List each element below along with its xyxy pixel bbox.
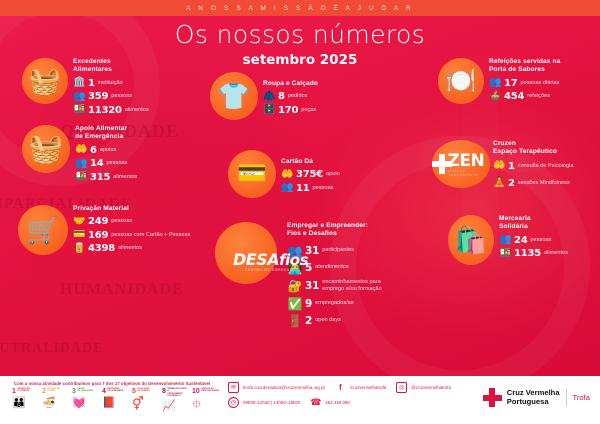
people-icon: 👥 <box>489 78 502 88</box>
people-icon: 👥 <box>75 159 88 169</box>
institution-icon: 🏛️ <box>73 78 86 88</box>
stat-value: 8 <box>278 91 285 102</box>
red-cross-icon <box>432 154 449 174</box>
contact-phone[interactable]: 252 419 080 <box>325 400 349 405</box>
stat-label: pessoas <box>111 218 132 225</box>
stat-row: 🔐 31 encaminhamentos para emprego e/ou f… <box>287 279 382 293</box>
stat-label: alimentos <box>125 107 149 114</box>
stat-label: pessoas com Cartão + Pessoas <box>111 232 190 239</box>
stat-row: 🍱 11320 alimentos <box>73 105 149 116</box>
desafios-logo-main: DESA <box>233 250 279 269</box>
hanger-icon: 🧥 <box>263 92 276 102</box>
sdg-list: 1 ERRADICAR A POBREZA 👪 2 ERRADICAR A FO… <box>12 388 218 414</box>
footer: Com a nossa atividade contribuímos para … <box>0 376 600 424</box>
stat-value: 14 <box>90 158 104 169</box>
stat-label: sessões Mindfulness <box>518 180 570 187</box>
stat-row: 👥 14 pessoas <box>75 158 137 169</box>
stat-row: 🤲 1 consulta de Psicologia <box>493 161 573 172</box>
block-title: Cruzen Espaço Terapêutico <box>493 140 573 157</box>
stat-label: apoios <box>100 147 116 154</box>
sdg-number: 5 <box>132 388 136 395</box>
clock-icon: ◷ <box>228 397 239 408</box>
soup-bowl-icon: 🍲 <box>489 92 502 102</box>
fruit-basket-glyph: 🧺 <box>29 135 64 163</box>
stat-row: 👥 11 pessoas <box>281 183 340 194</box>
stat-label: encaminhamentos para emprego e/ou formaç… <box>322 279 381 293</box>
sdg-icon-reduced-inequalities: ⯐ <box>192 396 218 411</box>
block-cartao-da: 💳 Cartão Dá 🤲 375€ apoio 👥 11 pessoas <box>228 150 340 198</box>
contact-email[interactable]: ttrofa.coordenadora@cruzvermelha.org.pt <box>243 385 325 390</box>
sdg-label: IGUALDADE DE GÉNERO <box>137 388 149 393</box>
food-box-icon: 🍱 <box>75 172 88 182</box>
payment-card-glyph: 💳 <box>237 162 267 186</box>
stat-label: participantes <box>322 247 354 254</box>
stat-row: ✅ 9 empregados/as <box>287 298 382 310</box>
stat-label: pedidos <box>288 93 308 100</box>
stat-value: 249 <box>88 216 108 227</box>
stat-row: 🍲 454 refeições <box>489 91 560 102</box>
stat-label: instituição <box>98 80 123 87</box>
sdg-icon-quality-education: 📕 <box>102 396 128 411</box>
clothing-rack-icon: 🗄️ <box>263 105 276 115</box>
stat-value: 4398 <box>88 243 115 254</box>
stat-value: 11320 <box>88 105 122 116</box>
sdg-label: ERRADICAR A FOME <box>47 388 59 393</box>
meditation-icon: 🧘 <box>493 178 506 188</box>
block-apoio-alimentar-emergencia: 🧺 Apoio Alimentar de Emergência 🤲 6 apoi… <box>22 125 137 185</box>
brand-name: Cruz Vermelha Portuguesa <box>507 389 560 406</box>
stat-label: alimentos <box>118 245 142 252</box>
sdg-number: 1 <box>12 388 16 395</box>
plate-cutlery-icon: 🍽️ <box>438 58 484 104</box>
block-mercearia-solidaria: 🛍️ Mercearia Solidária 👥 24 pessoas 🍱 11… <box>448 215 568 265</box>
stat-label: pessoas <box>107 160 128 167</box>
facebook-icon[interactable]: f <box>335 382 346 393</box>
stat-row: 👥 24 pessoas <box>499 235 568 246</box>
food-basket-icon: 🧺 <box>22 58 68 104</box>
stat-value: 359 <box>88 91 108 102</box>
stat-value: 170 <box>278 105 298 116</box>
sdg-number: 8 <box>162 388 166 395</box>
stat-label: pessoas <box>111 93 132 100</box>
stat-value: 1 <box>508 161 515 172</box>
grocery-bag-glyph: 🛍️ <box>455 227 487 253</box>
stat-value: 1 <box>88 78 95 89</box>
stat-label: peças <box>301 107 316 114</box>
block-roupa-e-calcado: 👕 Roupa e Calçado 🧥 8 pedidos 🗄️ 170 peç… <box>210 72 318 120</box>
stat-value: 6 <box>90 145 97 156</box>
envelope-icon: ✉ <box>228 382 239 393</box>
stat-value: 454 <box>504 91 524 102</box>
stat-label: consulta de Psicologia <box>518 163 574 170</box>
stat-row: 💳 169 pessoas com Cartão + Pessoas <box>73 230 190 241</box>
clothes-shoes-glyph: 👕 <box>218 83 250 109</box>
sdg-item-4: 4 EDUCAÇÃO DE QUALIDADE 📕 <box>102 388 128 414</box>
fruit-basket-icon: 🧺 <box>22 125 70 173</box>
stat-row: 👥 17 pessoas diárias <box>489 78 560 89</box>
contact-line-secondary: ◷ 09h00–12h30 | 14h00–18h00 ☎ 252 419 08… <box>228 397 461 408</box>
stat-value: 2 <box>508 178 515 189</box>
support-hands-icon: 🤲 <box>281 170 294 180</box>
mission-tagline-bar: A N O S S A M I S S Ã O É A J U D A R <box>0 0 600 16</box>
sdg-item-2: 2 ERRADICAR A FOME 🍜 <box>42 388 68 414</box>
block-excedentes-alimentares: 🧺 Excedentes Alimentares 🏛️ 1 instituiçã… <box>22 58 149 118</box>
sdg-icon-zero-hunger: 🍜 <box>42 396 68 411</box>
stat-value: 2 <box>305 315 312 327</box>
contact-instagram[interactable]: @cruzvermelhatrofa <box>411 385 451 390</box>
stat-value: 1135 <box>514 248 541 259</box>
clothes-shoes-icon: 👕 <box>210 72 258 120</box>
sdg-icon-gender-equality: ⚥ <box>132 396 158 411</box>
block-refeicoes-porta-de-sabores: 🍽️ Refeições servidas na Porta de Sabore… <box>438 58 560 105</box>
block-title: Refeições servidas na Porta de Sabores <box>489 58 560 75</box>
sdg-label: TRABALHO DIGNO E CRESCIMENTO ECONÓMICO <box>167 388 188 398</box>
stat-row: 🥫 4398 alimentos <box>73 243 190 254</box>
stat-row: 🏛️ 1 instituição <box>73 78 149 89</box>
stat-row: 🚪 2 open days <box>287 315 382 327</box>
block-privacao-material: 🛒 Privação Material 🤝 249 pessoas 💳 169 … <box>18 205 190 257</box>
phone-icon: ☎ <box>310 397 321 408</box>
sdg-item-5: 5 IGUALDADE DE GÉNERO ⚥ <box>132 388 158 414</box>
stat-row: 🍱 1135 alimentos <box>499 248 568 259</box>
page-title: Os nossos números <box>0 20 600 49</box>
stat-row: 🗄️ 170 peças <box>263 105 318 116</box>
brand-logo: Cruz Vermelha Portuguesa Trofa <box>483 388 590 407</box>
block-title: Excedentes Alimentares <box>73 58 149 75</box>
grocery-bag-heart-icon: 🛍️ <box>448 215 494 265</box>
sdg-number: 10 <box>192 388 200 395</box>
open-day-icon: 🚪 <box>287 315 303 327</box>
sdg-number: 3 <box>72 388 76 395</box>
block-title: Apoio Alimentar de Emergência <box>75 125 137 142</box>
stat-label: atendimentos <box>315 264 349 271</box>
hand-box-icon: 🤝 <box>73 217 86 227</box>
referral-icon: 🔐 <box>287 280 303 292</box>
block-empregar-e-empreender: DESAfios CENTRO DE EMPREGO Empregar e Em… <box>215 222 382 332</box>
stat-value: 375€ <box>296 169 323 180</box>
stat-label: pessoas <box>531 237 552 244</box>
stat-row: 🤲 6 apoios <box>75 145 137 156</box>
red-cross-icon <box>483 388 502 407</box>
brand-divider <box>566 389 567 406</box>
stat-row: 🤝 249 pessoas <box>73 216 190 227</box>
cruzen-logo-icon: ZEN ESPAÇO TERAPÊUTICO <box>432 140 490 188</box>
stat-row: 🍱 315 alimentos <box>75 172 137 183</box>
stat-label: pessoas <box>313 185 334 192</box>
credit-card-icon: 💳 <box>73 230 86 240</box>
stat-value: 31 <box>305 280 319 292</box>
stat-row: 🤲 375€ apoio <box>281 169 340 180</box>
sdg-item-10: 10 REDUZIR AS DESIGUALDADES ⯐ <box>192 388 218 414</box>
contact-hours: 09h00–12h30 | 14h00–18h00 <box>243 400 300 405</box>
block-title: Empregar e Empreender: Fios e Desafios <box>287 222 382 239</box>
check-circle-icon: ✅ <box>287 298 303 310</box>
block-title: Privação Material <box>73 205 190 213</box>
sdg-icon-good-health: 💓 <box>72 396 98 411</box>
food-box-icon: 🍱 <box>499 249 512 259</box>
sdg-label: REDUZIR AS DESIGUALDADES <box>201 388 219 393</box>
contact-facebook[interactable]: /cruzvermelhatrofa <box>350 385 386 390</box>
sdg-item-3: 3 SAÚDE DE QUALIDADE 💓 <box>72 388 98 414</box>
zen-wordmark: ZEN <box>448 151 485 171</box>
stat-label: open days <box>315 317 341 324</box>
payment-card-hand-icon: 💳 <box>228 150 276 198</box>
sdg-number: 4 <box>102 388 106 395</box>
sdg-label: ERRADICAR A POBREZA <box>17 388 29 393</box>
people-icon: 👥 <box>73 92 86 102</box>
infographic-page: A N O S S A M I S S Ã O É A J U D A R QU… <box>0 0 600 424</box>
sdg-label: EDUCAÇÃO DE QUALIDADE <box>107 388 123 393</box>
sdg-item-8: 8 TRABALHO DIGNO E CRESCIMENTO ECONÓMICO… <box>162 388 188 414</box>
stat-label: pessoas diárias <box>521 80 560 87</box>
sdg-number: 2 <box>42 388 46 395</box>
block-cruzen-espaco-terapeutico: ZEN ESPAÇO TERAPÊUTICO Cruzen Espaço Ter… <box>432 140 573 191</box>
food-box-icon: 🍱 <box>73 105 86 115</box>
stat-label: refeições <box>527 93 550 100</box>
instagram-icon[interactable]: ◎ <box>396 382 407 393</box>
brand-delegation: Trofa <box>573 393 590 402</box>
decorative-word-neutralidade: NEUTRALIDADE <box>0 341 104 357</box>
block-title: Mercearia Solidária <box>499 215 568 232</box>
caring-hands-icon: 🤲 <box>493 161 506 171</box>
groceries-icon: 🥫 <box>73 244 86 254</box>
block-title: Cartão Dá <box>281 158 340 166</box>
sdg-icon-no-poverty: 👪 <box>12 396 38 411</box>
contact-line-primary: ✉ ttrofa.coordenadora@cruzvermelha.org.p… <box>228 382 461 393</box>
block-title: Roupa e Calçado <box>263 80 318 88</box>
people-icon: 👥 <box>499 235 512 245</box>
stat-row: 🧥 8 pedidos <box>263 91 318 102</box>
mission-tagline: A N O S S A M I S S Ã O É A J U D A R <box>186 5 413 12</box>
shopping-card-icon: 🛒 <box>18 205 68 255</box>
desafios-logo-script: fios <box>279 251 308 269</box>
stat-value: 17 <box>504 78 518 89</box>
stat-value: 169 <box>88 230 108 241</box>
decorative-word-humanidade: HUMANIDADE <box>60 281 184 299</box>
stat-value: 24 <box>514 235 528 246</box>
stat-label: empregados/as <box>315 300 354 307</box>
desafios-logo-text: DESAfios CENTRO DE EMPREGO <box>233 250 308 272</box>
support-hands-icon: 🤲 <box>75 145 88 155</box>
food-basket-glyph: 🧺 <box>29 68 61 94</box>
stat-value: 9 <box>305 298 312 310</box>
sdg-label: SAÚDE DE QUALIDADE <box>77 388 93 393</box>
shopping-card-glyph: 🛒 <box>27 217 59 243</box>
stat-value: 315 <box>90 172 110 183</box>
stat-row: 🧘 2 sessões Mindfulness <box>493 178 573 189</box>
stat-label: alimentos <box>544 250 568 257</box>
stat-row: 👥 359 pessoas <box>73 91 149 102</box>
desafios-logo: DESAfios CENTRO DE EMPREGO <box>215 222 277 284</box>
stat-value: 11 <box>296 183 310 194</box>
stat-label: alimentos <box>113 174 137 181</box>
sdg-item-1: 1 ERRADICAR A POBREZA 👪 <box>12 388 38 414</box>
plate-cutlery-glyph: 🍽️ <box>445 69 476 94</box>
people-icon: 👥 <box>281 183 294 193</box>
sdg-icon-decent-work: 📈 <box>162 399 188 414</box>
cruzen-logo: ZEN ESPAÇO TERAPÊUTICO <box>432 151 490 177</box>
contact-block: ✉ ttrofa.coordenadora@cruzvermelha.org.p… <box>228 382 461 412</box>
stat-label: apoio <box>326 171 340 178</box>
sdg-note: Com a nossa atividade contribuímos para … <box>14 381 210 386</box>
